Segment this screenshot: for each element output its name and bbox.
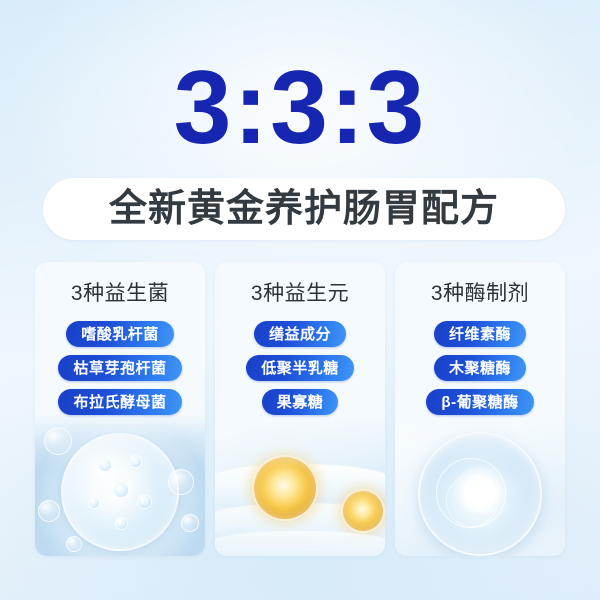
- ingredient-pill[interactable]: 纤维素酶: [434, 321, 526, 347]
- feature-card-probiotics: 3种益生菌 嗜酸乳杆菌 枯草芽孢杆菌 布拉氏酵母菌: [35, 262, 205, 556]
- bubble-icon: [38, 500, 60, 522]
- feature-columns: 3种益生菌 嗜酸乳杆菌 枯草芽孢杆菌 布拉氏酵母菌 3种益生元 缮益成分 低聚半…: [35, 262, 565, 556]
- promo-banner: 3:3:3 全新黄金养护肠胃配方 3种益生菌: [0, 0, 600, 600]
- golden-sphere-icon: [341, 489, 385, 533]
- ingredient-pill[interactable]: 缮益成分: [254, 321, 346, 347]
- liquid-wave-icon: [215, 531, 385, 556]
- ingredient-pill[interactable]: 布拉氏酵母菌: [58, 389, 181, 415]
- ingredient-pill[interactable]: 枯草芽孢杆菌: [58, 355, 181, 381]
- ingredient-pill[interactable]: 木聚糖酶: [434, 355, 526, 381]
- bubble-icon: [181, 514, 199, 532]
- pill-list-probiotics: 嗜酸乳杆菌 枯草芽孢杆菌 布拉氏酵母菌: [58, 321, 181, 415]
- bubble-icon: [44, 427, 72, 455]
- ingredient-pill[interactable]: 低聚半乳糖: [246, 355, 354, 381]
- probiotics-artwork: [35, 416, 205, 556]
- bubble-icon: [168, 469, 194, 495]
- subtitle-pill: 全新黄金养护肠胃配方: [43, 178, 565, 240]
- subtitle-text: 全新黄金养护肠胃配方: [109, 190, 499, 228]
- sphere-streak-icon: [446, 475, 498, 527]
- card-heading-prebiotics: 3种益生元: [251, 283, 349, 304]
- molecule-node-icon: [113, 482, 129, 498]
- hero-number: 3:3:3: [0, 52, 600, 164]
- molecule-node-icon: [115, 517, 128, 530]
- feature-card-prebiotics: 3种益生元 缮益成分 低聚半乳糖 果寡糖: [215, 262, 385, 556]
- prebiotics-artwork: [215, 416, 385, 556]
- bubble-icon: [66, 536, 82, 552]
- molecule-node-icon: [88, 497, 100, 509]
- pill-list-prebiotics: 缮益成分 低聚半乳糖 果寡糖: [246, 321, 354, 415]
- ingredient-pill[interactable]: 嗜酸乳杆菌: [66, 321, 174, 347]
- molecule-node-icon: [98, 458, 112, 472]
- ingredient-pill[interactable]: 果寡糖: [262, 389, 339, 415]
- molecule-node-icon: [129, 455, 142, 468]
- feature-card-enzymes: 3种酶制剂 纤维素酶 木聚糖酶 β-葡聚糖酶: [395, 262, 565, 556]
- enzymes-artwork: [395, 416, 565, 556]
- card-heading-enzymes: 3种酶制剂: [431, 283, 529, 304]
- card-heading-probiotics: 3种益生菌: [71, 283, 169, 304]
- ingredient-pill[interactable]: β-葡聚糖酶: [426, 389, 533, 415]
- pill-list-enzymes: 纤维素酶 木聚糖酶 β-葡聚糖酶: [426, 321, 533, 415]
